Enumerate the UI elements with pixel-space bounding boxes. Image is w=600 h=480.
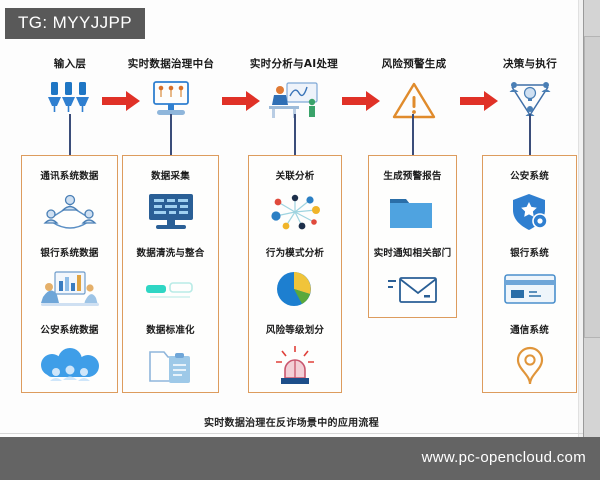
list-item: 银行系统 [483,245,576,312]
connector-line-2 [170,114,172,156]
list-item: 数据采集 [123,168,218,235]
connector-line-3 [294,114,296,156]
folder-clipboard-icon [123,343,218,389]
item-label: 关联分析 [249,168,341,182]
item-label: 生成预警报告 [369,168,456,182]
credit-card-icon [483,266,576,312]
divider [0,433,583,434]
list-item: 通信系统 [483,322,576,389]
envelope-icon [369,266,456,312]
arrow-right-4 [458,90,502,112]
item-label: 数据采集 [123,168,218,182]
item-label: 数据清洗与整合 [123,245,218,259]
data-collect-monitor-icon [123,189,218,235]
footer-url-watermark: www.pc-opencloud.com [422,449,586,466]
item-label: 银行系统 [483,245,576,259]
arrow-right-1 [100,90,144,112]
folder-icon [369,189,456,235]
item-label: 数据标准化 [123,322,218,336]
item-label: 通信系统 [483,322,576,336]
item-label: 通讯系统数据 [22,168,117,182]
pie-chart-icon [249,266,341,312]
connector-line-1 [69,114,71,156]
connector-line-5 [529,114,531,156]
stage-title: 实时分析与AI处理 [238,56,350,71]
cloud-users-icon [22,343,117,389]
list-item: 公安系统数据 [22,322,117,389]
item-label: 银行系统数据 [22,245,117,259]
stage-title: 输入层 [14,56,126,71]
stage-card-2: 数据采集 数据清洗与整合 [122,155,219,393]
connector-line-4 [412,114,414,156]
list-item: 行为模式分析 [249,245,341,312]
stage-card-1: 通讯系统数据 [21,155,118,393]
alarm-light-icon [249,343,341,389]
list-item: 公安系统 [483,168,576,235]
scrollbar-thumb[interactable] [584,36,600,338]
list-item: 关联分析 [249,168,341,235]
list-item: 数据清洗与整合 [123,245,218,312]
item-label: 公安系统 [483,168,576,182]
item-label: 公安系统数据 [22,322,117,336]
node-network-icon [249,189,341,235]
shield-gear-icon [483,189,576,235]
figure-caption: 实时数据治理在反诈场景中的应用流程 [0,414,583,429]
people-network-icon [22,189,117,235]
arrow-right-2 [220,90,264,112]
stage-title: 决策与执行 [474,56,586,71]
location-pin-icon [483,343,576,389]
list-item: 数据标准化 [123,322,218,389]
data-clean-icon [123,266,218,312]
stage-card-3: 关联分析 行为模式分析 [248,155,342,393]
stage-title: 风险预警生成 [358,56,470,71]
item-label: 实时通知相关部门 [369,245,456,259]
item-label: 风险等级划分 [249,322,341,336]
item-label: 行为模式分析 [249,245,341,259]
tg-watermark-badge: TG: MYYJJPP [5,8,145,39]
list-item: 通讯系统数据 [22,168,117,235]
bank-dashboard-icon [22,266,117,312]
arrow-right-3 [340,90,384,112]
list-item: 风险等级划分 [249,322,341,389]
list-item: 银行系统数据 [22,245,117,312]
stage-card-5: 公安系统 银行系统 [482,155,577,393]
list-item: 生成预警报告 [369,168,456,235]
stage-title: 实时数据治理中台 [115,56,227,71]
stage-card-4: 生成预警报告 实时通知相关部门 [368,155,457,318]
list-item: 实时通知相关部门 [369,245,456,312]
diagram-page: 输入层 实时数据治理中台 [0,0,600,480]
